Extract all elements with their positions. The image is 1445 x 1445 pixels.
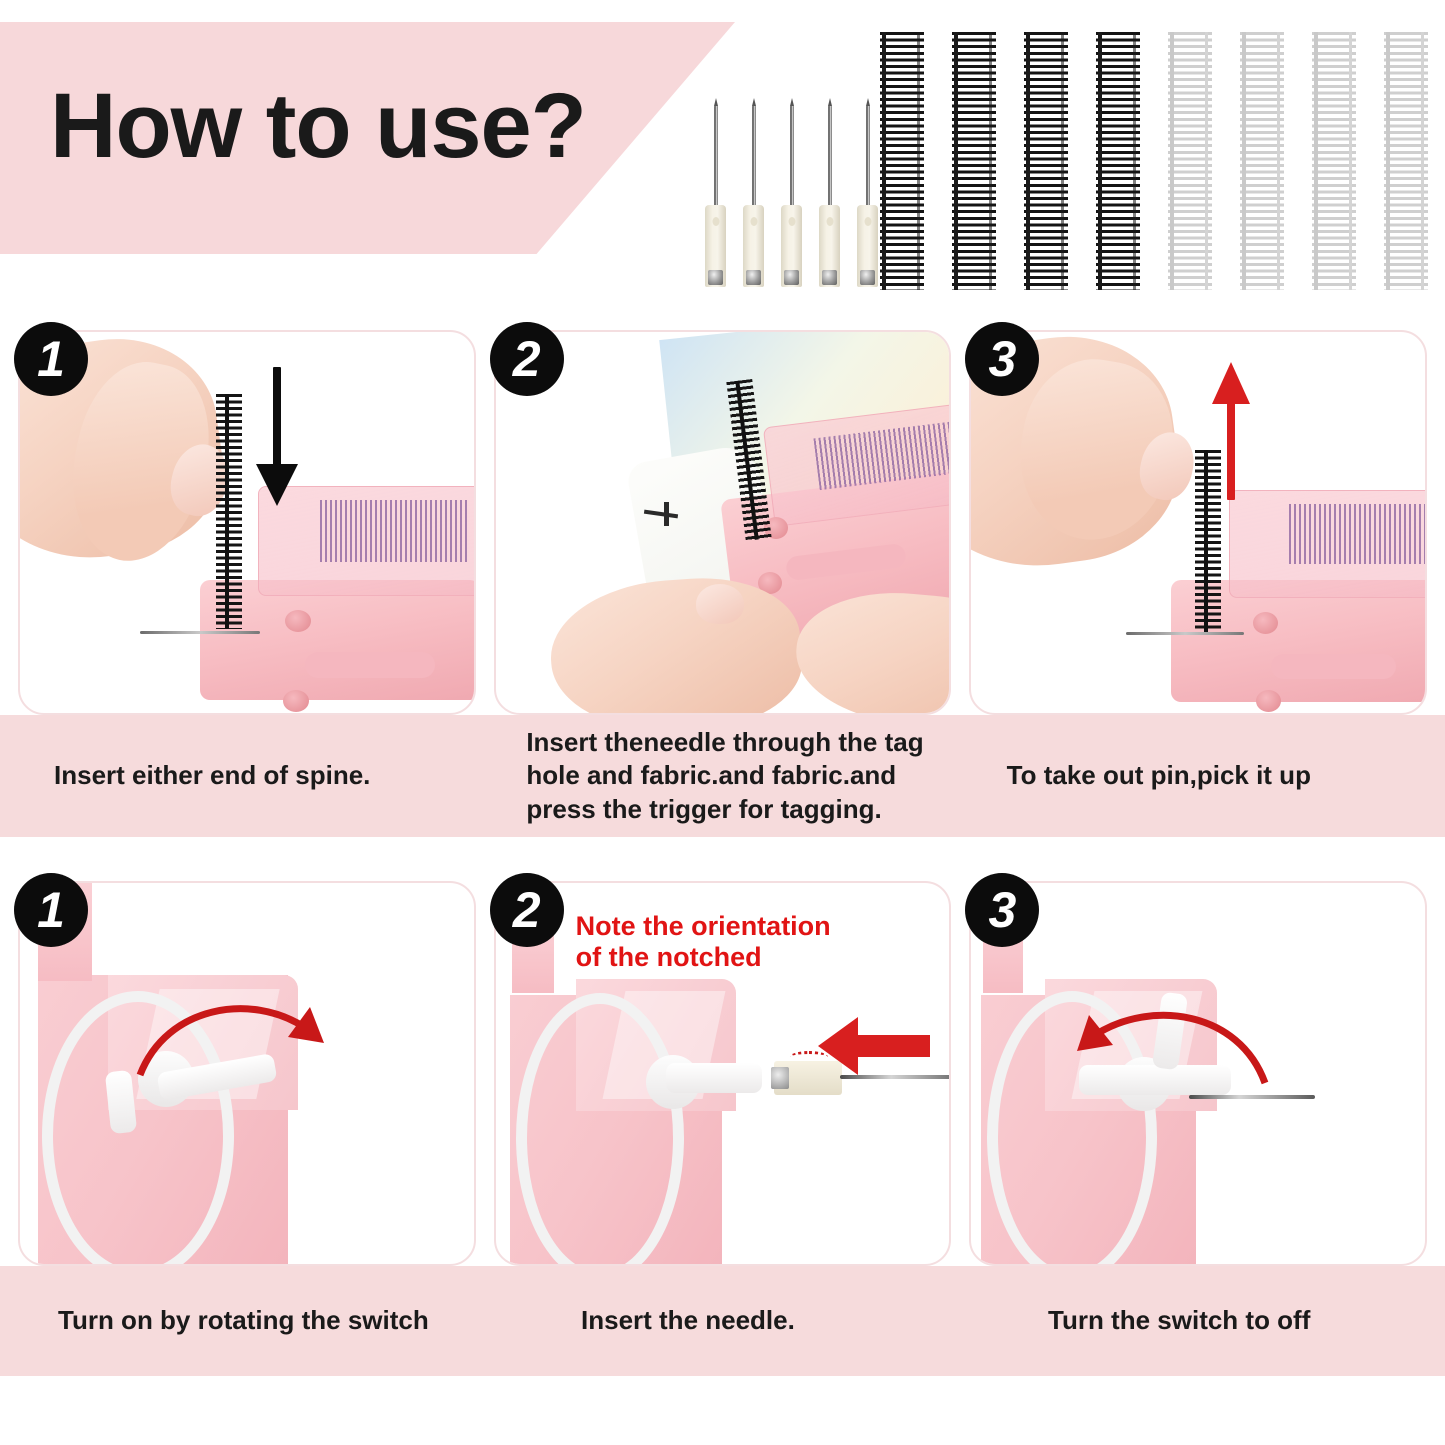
step-row-needle-change: 1 2 Note the orientation of the notched	[0, 881, 1445, 1266]
step-caption: Turn the switch to off	[978, 1266, 1427, 1376]
hand-icon	[546, 571, 806, 713]
strip-spine-icon	[1386, 32, 1390, 290]
down-arrow-shaft	[273, 367, 281, 472]
step-number-badge: 1	[14, 873, 88, 947]
white-fastener-strip	[1168, 32, 1212, 290]
black-fastener-strip	[880, 32, 924, 290]
replacement-needles-group	[705, 105, 878, 287]
strip-rungs-icon	[1240, 32, 1284, 290]
step-panel-2-2: 2 Note the orientation of the notched	[494, 881, 952, 1266]
gun-grip-slot	[1271, 654, 1396, 679]
tag-pin-head-icon	[664, 502, 669, 526]
switch-lever	[666, 1063, 762, 1093]
white-fastener-strip	[1384, 32, 1428, 290]
step-panel-1-2: 2	[494, 330, 952, 715]
step-panel-1-1: 1	[18, 330, 476, 715]
needle-metal-tip-icon	[784, 270, 799, 285]
needle-metal-tip-icon	[708, 270, 723, 285]
panel-image	[496, 332, 950, 713]
fastener-strips-group	[880, 32, 1428, 290]
black-fastener-strip	[952, 32, 996, 290]
header: How to use?	[0, 0, 1445, 330]
needle-shaft-icon	[866, 105, 870, 210]
panel-image	[20, 332, 474, 713]
needle-handle	[705, 205, 726, 287]
step-number-badge: 2	[490, 322, 564, 396]
down-arrow-icon	[256, 464, 298, 506]
strip-spine-icon	[1026, 32, 1030, 290]
step-caption: Insert either end of spine.	[18, 715, 474, 837]
gun-screw-hole	[285, 610, 311, 632]
step-caption: Insert theneedle through the tag hole an…	[492, 715, 946, 837]
needle-handle	[819, 205, 840, 287]
needle-metal-tip-icon	[746, 270, 761, 285]
magazine-loaded-fasteners	[1289, 504, 1425, 564]
gun-screw-hole	[1256, 690, 1281, 712]
replacement-needle	[781, 105, 802, 287]
step-panel-2-3: 3	[969, 881, 1427, 1266]
strip-rungs-icon	[952, 32, 996, 290]
step-panel-1-3: 3	[969, 330, 1427, 715]
step-caption: To take out pin,pick it up	[965, 715, 1427, 837]
strip-spine-icon	[1242, 32, 1246, 290]
gun-needle-icon	[1126, 632, 1244, 635]
fingernail-icon	[696, 584, 744, 624]
magazine-loaded-fasteners	[320, 500, 470, 562]
strip-rungs-icon	[1384, 32, 1428, 290]
page-title: How to use?	[50, 80, 586, 172]
strip-rungs-icon	[880, 32, 924, 290]
replacement-needle	[743, 105, 764, 287]
strip-rungs-icon	[1168, 32, 1212, 290]
step-number-badge: 1	[14, 322, 88, 396]
strip-spine-icon	[954, 32, 958, 290]
needle-metal-tip-icon	[860, 270, 875, 285]
strip-rungs-icon	[1024, 32, 1068, 290]
strip-rungs-icon	[1312, 32, 1356, 290]
step-row-loading: 1 2	[0, 330, 1445, 715]
needle-metal-tip-icon	[822, 270, 837, 285]
needle-handle	[857, 205, 878, 287]
rotate-clockwise-arrow-icon	[132, 985, 332, 1105]
insert-left-arrow-icon	[814, 1011, 934, 1081]
gun-needle-icon	[140, 631, 260, 634]
white-fastener-strip	[1312, 32, 1356, 290]
needle-handle	[743, 205, 764, 287]
black-fastener-strip	[1096, 32, 1140, 290]
replacement-needle	[819, 105, 840, 287]
needle-metal-tip-icon	[771, 1067, 789, 1089]
strip-spine-icon	[882, 32, 886, 290]
white-fastener-strip	[1240, 32, 1284, 290]
panel-image	[971, 332, 1425, 713]
inserted-fastener-strip	[216, 394, 242, 629]
needle-shaft-icon	[752, 105, 756, 210]
panel-image	[971, 883, 1425, 1264]
step-number-badge: 3	[965, 322, 1039, 396]
panel-image	[20, 883, 474, 1264]
strip-spine-icon	[1170, 32, 1174, 290]
step-panel-2-1: 1	[18, 881, 476, 1266]
needle-handle	[781, 205, 802, 287]
strip-rungs-icon	[1096, 32, 1140, 290]
caption-band-row2: Turn on by rotating the switch Insert th…	[0, 1266, 1445, 1376]
step-number-badge: 2	[490, 873, 564, 947]
caption-band-row1: Insert either end of spine. Insert thene…	[0, 715, 1445, 837]
black-fastener-strip	[1024, 32, 1068, 290]
step-caption: Turn on by rotating the switch	[18, 1266, 437, 1376]
replacement-needle	[857, 105, 878, 287]
replacement-needle	[705, 105, 726, 287]
step-caption: Insert the needle.	[455, 1266, 960, 1376]
step-number-badge: 3	[965, 873, 1039, 947]
removed-fastener-strip	[1195, 450, 1221, 632]
up-arrow-shaft	[1227, 402, 1235, 500]
orientation-warning-note: Note the orientation of the notched	[576, 911, 836, 974]
up-arrow-icon	[1212, 362, 1250, 404]
row-separator	[0, 837, 1445, 881]
needle-shaft-icon	[828, 105, 832, 210]
rotate-counterclockwise-arrow-icon	[1063, 991, 1273, 1111]
gun-screw-hole	[283, 690, 309, 712]
strip-spine-icon	[1314, 32, 1318, 290]
gun-grip-slot	[305, 652, 435, 678]
needle-shaft-icon	[714, 105, 718, 210]
strip-spine-icon	[1098, 32, 1102, 290]
needle-shaft-icon	[790, 105, 794, 210]
trigger-guard-ring	[516, 993, 684, 1264]
